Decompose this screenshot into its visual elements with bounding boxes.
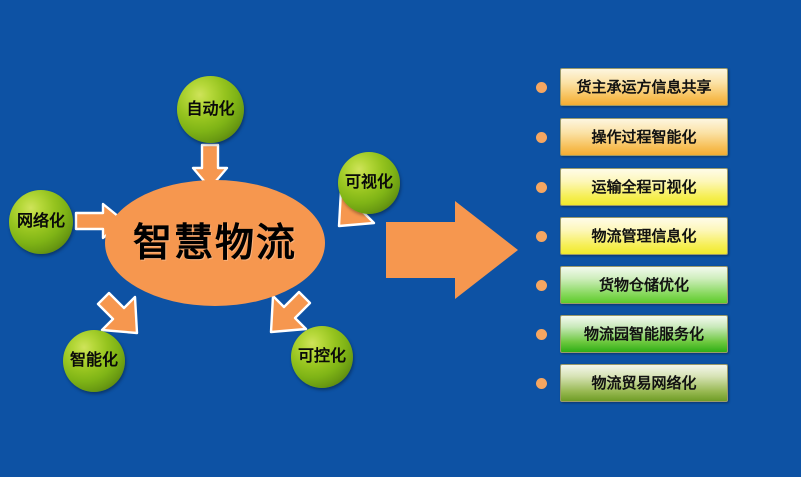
outcome-label: 货物仓储优化	[599, 278, 689, 293]
node-wangluohua[interactable]: 网络化	[9, 190, 73, 254]
bullet-icon	[536, 378, 547, 389]
node-label: 网络化	[17, 214, 65, 230]
bullet-icon	[536, 231, 547, 242]
big-right-arrow-icon	[386, 201, 518, 299]
outcome-chip[interactable]: 操作过程智能化	[560, 118, 728, 156]
outcome-chip[interactable]: 货主承运方信息共享	[560, 68, 728, 106]
node-kekonghua[interactable]: 可控化	[291, 326, 353, 388]
node-keshihua[interactable]: 可视化	[338, 152, 400, 214]
outcome-list: 货主承运方信息共享 操作过程智能化 运输全程可视化 物流管理信息化 货物仓储优化	[536, 68, 736, 408]
node-zidonghua[interactable]: 自动化	[177, 76, 244, 143]
outcome-chip[interactable]: 物流管理信息化	[560, 217, 728, 255]
bullet-icon	[536, 82, 547, 93]
list-item[interactable]: 物流管理信息化	[536, 217, 728, 255]
core-concept-label: 智慧物流	[133, 224, 297, 263]
outcome-label: 操作过程智能化	[591, 130, 696, 145]
node-label: 自动化	[186, 102, 234, 118]
core-concept-ellipse: 智慧物流	[105, 180, 325, 306]
list-item[interactable]: 货主承运方信息共享	[536, 68, 728, 106]
bullet-icon	[536, 280, 547, 291]
bullet-icon	[536, 182, 547, 193]
arrow-up-left-icon	[271, 292, 310, 332]
arrow-up-right-icon	[98, 293, 137, 333]
outcome-label: 货主承运方信息共享	[576, 80, 711, 95]
outcome-chip[interactable]: 运输全程可视化	[560, 168, 728, 206]
node-label: 可控化	[298, 349, 346, 365]
list-item[interactable]: 物流园智能服务化	[536, 315, 728, 353]
outcome-label: 物流管理信息化	[591, 229, 696, 244]
node-label: 智能化	[70, 353, 118, 369]
list-item[interactable]: 运输全程可视化	[536, 168, 728, 206]
list-item[interactable]: 货物仓储优化	[536, 266, 728, 304]
node-zhinenghua[interactable]: 智能化	[63, 330, 125, 392]
outcome-label: 运输全程可视化	[591, 180, 696, 195]
outcome-label: 物流园智能服务化	[584, 327, 704, 342]
bullet-icon	[536, 132, 547, 143]
bullet-icon	[536, 329, 547, 340]
list-item[interactable]: 操作过程智能化	[536, 118, 728, 156]
outcome-chip[interactable]: 物流园智能服务化	[560, 315, 728, 353]
diagram-canvas: 智慧物流 自动化 网络化 可视化 智能化 可控化 货主承运方信息共享 操作过程智…	[0, 0, 801, 477]
node-label: 可视化	[345, 175, 393, 191]
outcome-chip[interactable]: 货物仓储优化	[560, 266, 728, 304]
outcome-chip[interactable]: 物流贸易网络化	[560, 364, 728, 402]
list-item[interactable]: 物流贸易网络化	[536, 364, 728, 402]
outcome-label: 物流贸易网络化	[591, 376, 696, 391]
